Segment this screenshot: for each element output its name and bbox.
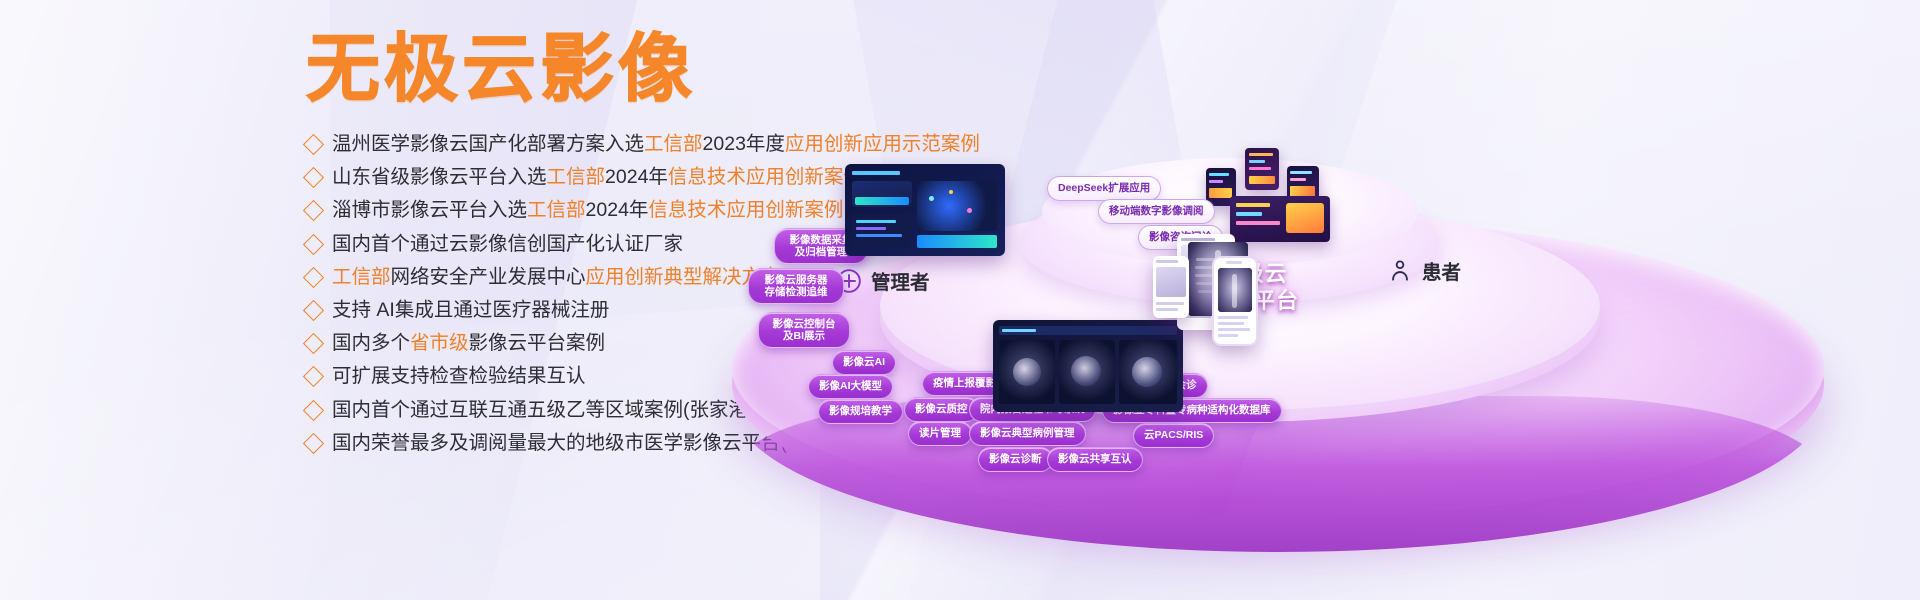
diamond-bullet-icon [303, 300, 324, 321]
dashboard-screen-analytics [845, 164, 1005, 256]
tag-image-cloud-console[interactable]: 影像云控制台及BI展示 [758, 312, 850, 348]
diamond-bullet-icon [303, 267, 324, 288]
plain-text: 网络安全产业发展中心 [391, 266, 586, 288]
tag-text: DeepSeek扩展应用 [1058, 182, 1150, 195]
role-label-administrator: 管理者 [871, 266, 930, 295]
platform-architecture-diagram: 无极云 影像平台 管理者 医生 患者 [690, 0, 1920, 600]
tag-reading-management[interactable]: 读片管理 [908, 421, 972, 446]
tag-image-training-education[interactable]: 影像规培教学 [818, 399, 903, 424]
diamond-bullet-icon [303, 167, 324, 188]
tag-text: 云PACS/RIS [1144, 429, 1203, 442]
plain-text: 温州医学影像云国产化部署方案入选 [332, 133, 644, 155]
tag-text: 影像云质控 [915, 403, 968, 416]
tag-mobile-image-viewing[interactable]: 移动端数字影像调阅 [1098, 199, 1215, 224]
diamond-bullet-icon [303, 433, 324, 454]
diamond-bullet-icon [303, 233, 324, 254]
tag-image-ai-large-model[interactable]: 影像AI大模型 [808, 374, 893, 399]
plain-text: 国内多个 [332, 332, 410, 354]
role-chip-administrator[interactable]: 管理者 [836, 266, 930, 295]
diamond-bullet-icon [303, 399, 324, 420]
tag-text: 影像云典型病例管理 [980, 427, 1075, 440]
highlight-text: 省市级 [410, 332, 469, 354]
plain-text: 影像云平台案例 [469, 332, 606, 354]
diamond-bullet-icon [303, 200, 324, 221]
mobile-phone-mockup [1212, 256, 1258, 346]
center-tower-screen-top [1245, 148, 1279, 190]
tag-text: 影像云共享互认 [1058, 453, 1132, 466]
tag-image-cloud-qc[interactable]: 影像云质控 [904, 397, 979, 422]
tag-text: 影像云服务器存储检测追维 [765, 274, 828, 298]
banner-stage: 无极云影像 温州医学影像云国产化部署方案入选工信部2023年度应用创新应用示范案… [0, 0, 1920, 600]
center-tower-base-screen [1230, 196, 1330, 242]
tag-text: 影像云控制台及BI展示 [773, 318, 836, 342]
diamond-bullet-icon [303, 333, 324, 354]
tag-text: 影像云AI [843, 356, 885, 369]
feature-bullet-text: 可扩展支持检查检验结果互认 [332, 362, 586, 390]
plain-text: 2024年 [605, 166, 668, 188]
plain-text: 国内首个通过云影像信创国产化认证厂家 [332, 233, 683, 255]
diamond-bullet-icon [303, 134, 324, 155]
patient-person-icon [1387, 258, 1413, 284]
tag-image-cloud-server[interactable]: 影像云服务器存储检测追维 [748, 268, 844, 304]
feature-bullet-text: 支持 AI集成且通过医疗器械注册 [332, 296, 609, 324]
tablet-mockup [1153, 256, 1189, 318]
tag-text: 影像规培教学 [829, 405, 892, 418]
highlight-text: 工信部 [547, 166, 606, 188]
tag-image-cloud-mutual-recognition[interactable]: 影像云共享互认 [1047, 447, 1143, 472]
tag-deepseek-extension[interactable]: DeepSeek扩展应用 [1047, 176, 1161, 201]
plain-text: 山东省级影像云平台入选 [332, 166, 547, 188]
tag-text: 影像数据采集及归档管理 [790, 234, 853, 258]
feature-bullet-text: 国内多个省市级影像云平台案例 [332, 329, 605, 357]
highlight-text: 工信部 [527, 199, 586, 221]
role-label-patient: 患者 [1422, 256, 1461, 285]
highlight-text: 工信部 [332, 266, 391, 288]
tag-text: 读片管理 [919, 427, 961, 440]
plain-text: 支持 AI集成且通过医疗器械注册 [332, 299, 609, 321]
page-title: 无极云影像 [306, 26, 696, 112]
diamond-bullet-icon [303, 366, 324, 387]
tag-text: 移动端数字影像调阅 [1109, 205, 1204, 218]
tag-typical-case-management[interactable]: 影像云典型病例管理 [969, 421, 1086, 446]
feature-bullet-text: 国内首个通过云影像信创国产化认证厂家 [332, 230, 683, 258]
plain-text: 淄博市影像云平台入选 [332, 199, 527, 221]
tag-image-cloud-ai[interactable]: 影像云AI [832, 350, 896, 375]
tag-text: 影像AI大模型 [819, 380, 882, 393]
tag-cloud-pacs-ris[interactable]: 云PACS/RIS [1133, 423, 1214, 448]
plain-text: 2024年 [586, 199, 649, 221]
tag-text: 影像云诊断 [989, 453, 1042, 466]
tag-image-cloud-diagnosis[interactable]: 影像云诊断 [978, 447, 1053, 472]
plain-text: 可扩展支持检查检验结果互认 [332, 365, 586, 387]
role-chip-patient[interactable]: 患者 [1387, 256, 1461, 285]
dashboard-screen-viewer [993, 320, 1183, 412]
